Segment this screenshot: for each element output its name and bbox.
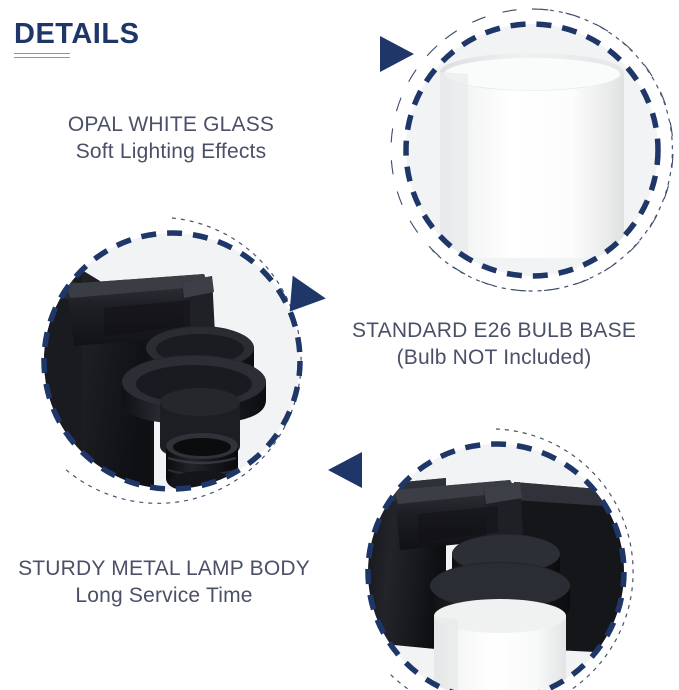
feature-caption-line1: OPAL WHITE GLASS xyxy=(26,112,316,139)
callout-glass-shade xyxy=(372,0,679,300)
product-art-glass-shade xyxy=(440,53,624,258)
feature-caption-line1: STANDARD E26 BULB BASE xyxy=(318,318,670,345)
feature-caption-opal-white-glass: OPAL WHITE GLASS Soft Lighting Effects xyxy=(26,112,316,166)
arrow-left-icon xyxy=(328,452,362,488)
details-infographic: Details xyxy=(0,0,679,690)
feature-caption-line2: Long Service Time xyxy=(4,583,324,610)
feature-caption-line1: STURDY METAL LAMP BODY xyxy=(4,556,324,583)
feature-caption-line2: Soft Lighting Effects xyxy=(26,139,316,166)
callout-full-lamp xyxy=(334,404,664,690)
callout-lamp-socket xyxy=(4,196,334,526)
feature-caption-line2: (Bulb NOT Included) xyxy=(318,345,670,372)
title-underline-rule xyxy=(14,53,70,58)
arrow-right-icon xyxy=(380,36,414,72)
feature-caption-sturdy-metal-lamp-body: STURDY METAL LAMP BODY Long Service Time xyxy=(4,556,324,610)
feature-caption-standard-e26-bulb-base: STANDARD E26 BULB BASE (Bulb NOT Include… xyxy=(318,318,670,372)
page-title-text: Details xyxy=(14,8,254,50)
page-title: Details xyxy=(14,8,254,58)
arrow-right-icon xyxy=(288,276,329,317)
